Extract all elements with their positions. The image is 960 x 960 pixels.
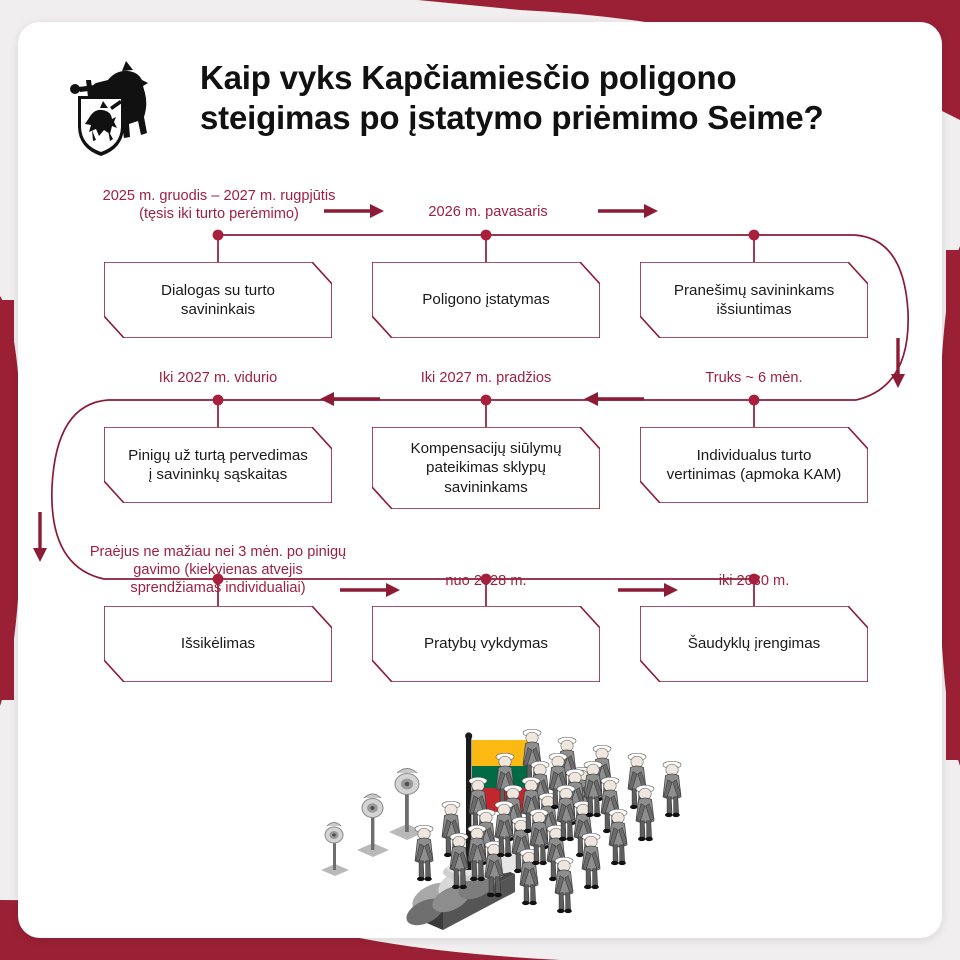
step-box-row2-1[interactable]: Pinigų už turtą pervedimas į savininkų s… xyxy=(104,427,332,503)
step-box-row3-3[interactable]: Šaudyklų įrengimas xyxy=(640,606,868,682)
caption-row2-step3: Truks ~ 6 mėn. xyxy=(654,370,854,388)
arrow-left-row2-b xyxy=(584,392,598,406)
step-label: Kompensacijų siūlymų pateikimas sklypų s… xyxy=(410,439,561,496)
caption-row3-step3: iki 2030 m. xyxy=(654,573,854,591)
lithuania-mod-coat-of-arms-icon xyxy=(62,58,158,158)
step-label: Individualus turto vertinimas (apmoka KA… xyxy=(667,446,842,484)
step-label: Šaudyklų įrengimas xyxy=(688,634,821,653)
caption-row3-step1: Praėjus ne mažiau nei 3 mėn. po pinigų g… xyxy=(58,544,378,597)
step-label: Pinigų už turtą pervedimas į savininkų s… xyxy=(128,446,308,484)
caption-row1-step1: 2025 m. gruodis – 2027 m. rugpjūtis (tęs… xyxy=(74,188,364,224)
arrow-down-right xyxy=(891,374,905,388)
step-box-row1-2[interactable]: Poligono įstatymas xyxy=(372,262,600,338)
step-box-row1-1[interactable]: Dialogas su turto savininkais xyxy=(104,262,332,338)
caption-row2-step1: Iki 2027 m. vidurio xyxy=(118,370,318,388)
step-box-row3-1[interactable]: Išsikėlimas xyxy=(104,606,332,682)
step-label: Išsikėlimas xyxy=(181,634,255,653)
page-title: Kaip vyks Kapčiamiesčio poligono steigim… xyxy=(200,58,920,139)
page-title-line-1: Kaip vyks Kapčiamiesčio poligono xyxy=(200,58,920,98)
arrow-left-row2-a xyxy=(320,392,334,406)
step-label: Pranešimų savininkams išsiuntimas xyxy=(674,281,834,319)
page-title-line-2: steigimas po įstatymo priėmimo Seime? xyxy=(200,98,920,138)
step-box-row2-2[interactable]: Kompensacijų siūlymų pateikimas sklypų s… xyxy=(372,427,600,509)
header: Kaip vyks Kapčiamiesčio poligono steigim… xyxy=(52,50,912,170)
caption-row1-step2: 2026 m. pavasaris xyxy=(388,204,588,222)
step-label: Poligono įstatymas xyxy=(422,290,549,309)
military-training-ground-illustration xyxy=(273,722,703,932)
step-box-row1-3[interactable]: Pranešimų savininkams išsiuntimas xyxy=(640,262,868,338)
step-label: Pratybų vykdymas xyxy=(424,634,548,653)
step-label: Dialogas su turto savininkais xyxy=(161,281,275,319)
caption-row2-step2: Iki 2027 m. pradžios xyxy=(386,370,586,388)
arrow-right-row1-a xyxy=(370,204,384,218)
step-box-row3-2[interactable]: Pratybų vykdymas xyxy=(372,606,600,682)
step-box-row2-3[interactable]: Individualus turto vertinimas (apmoka KA… xyxy=(640,427,868,503)
caption-row3-step2: nuo 2028 m. xyxy=(386,573,586,591)
soldier-formation xyxy=(415,729,681,913)
shooting-targets xyxy=(321,769,425,877)
arrow-down-left xyxy=(33,548,47,562)
infographic-card: Kaip vyks Kapčiamiesčio poligono steigim… xyxy=(18,22,942,938)
arrow-right-row1-b xyxy=(644,204,658,218)
